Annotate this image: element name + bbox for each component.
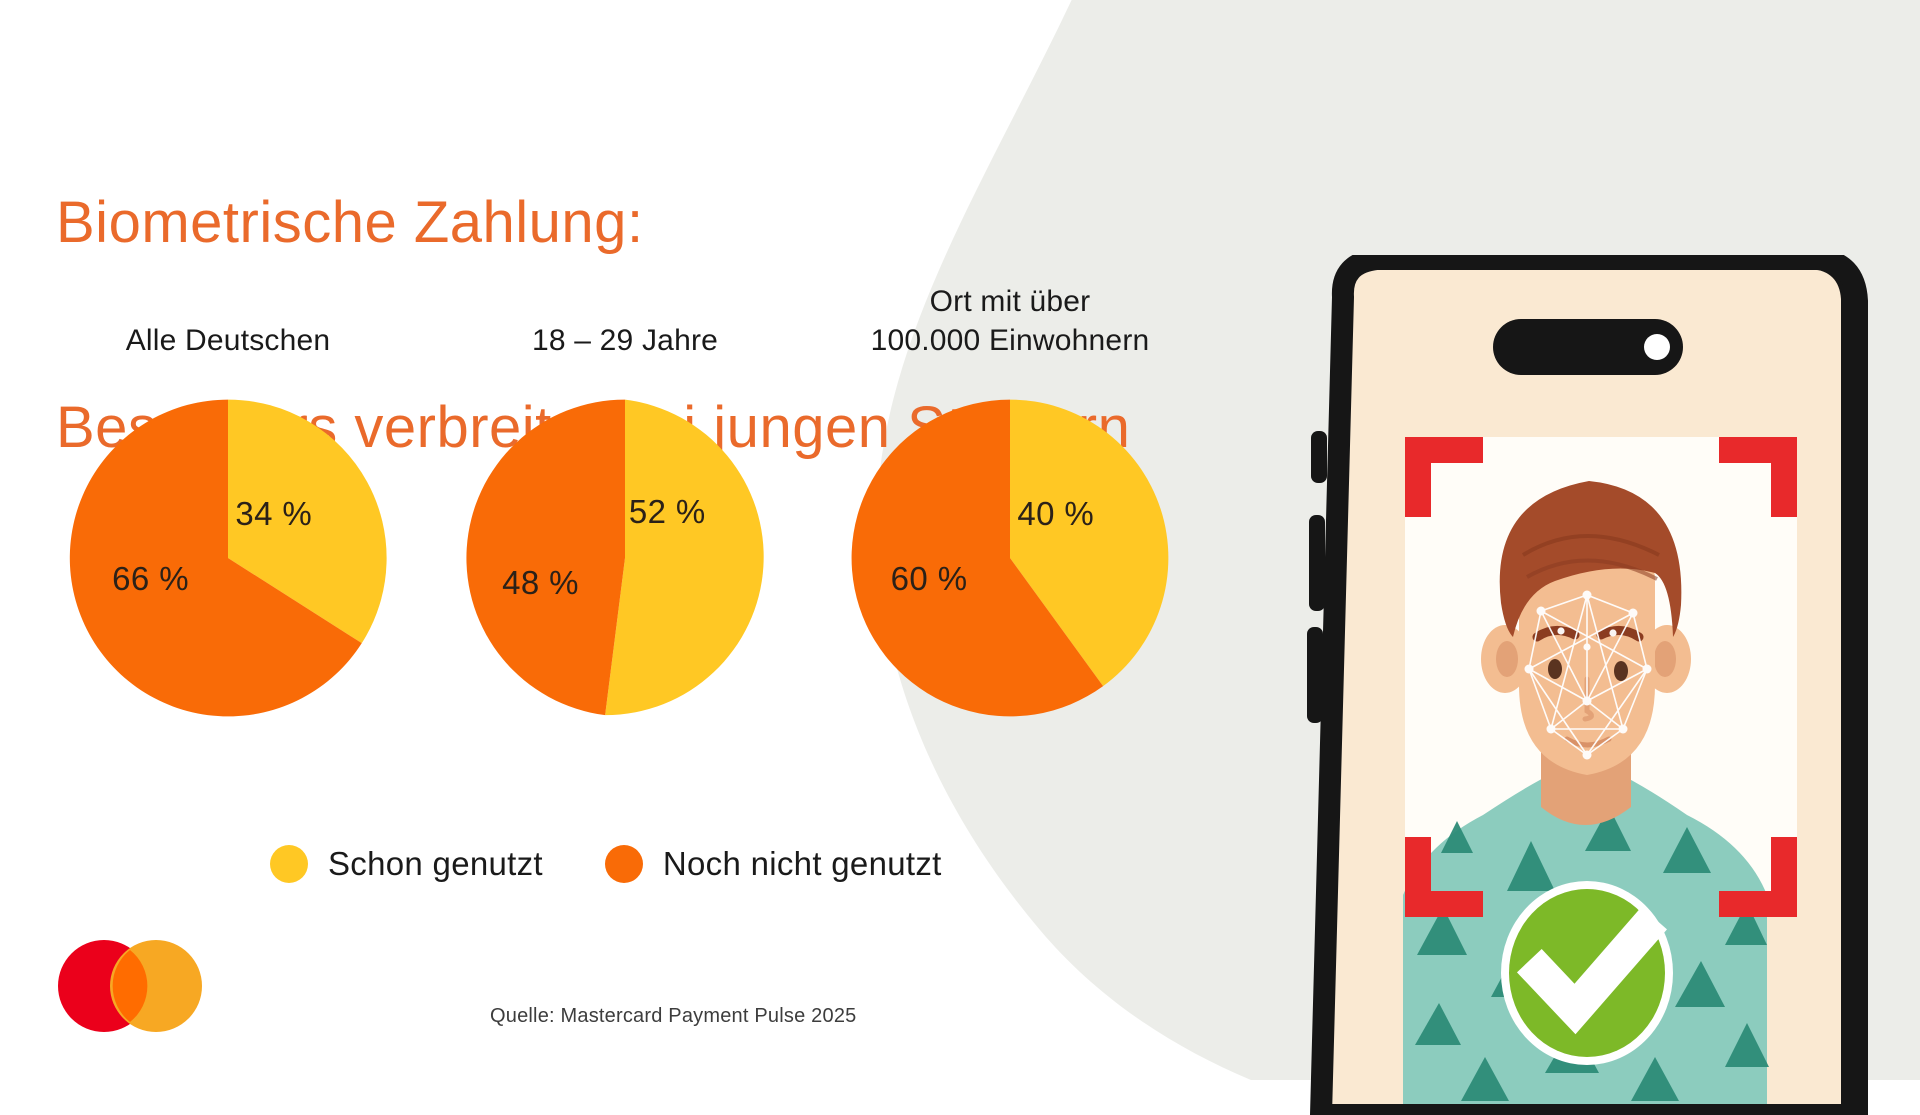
pie-chart-group: Alle Deutschen 34 % 66 % 18 – 29 Jahre xyxy=(0,282,1300,802)
title-line-1: Biometrische Zahlung: xyxy=(56,189,1130,257)
chart-column-ort-mit-ueber-100000-einwohnern: Ort mit über 100.000 Einwohnern 40 % 60 … xyxy=(810,282,1210,734)
phone-volume-up-icon xyxy=(1309,515,1325,611)
legend-item-noch-nicht-genutzt: Noch nicht genutzt xyxy=(605,845,942,883)
pie-label-2-yellow: 40 % xyxy=(1017,495,1094,533)
chart-title-1: 18 – 29 Jahre xyxy=(425,282,825,360)
smartphone-face-scan-illustration xyxy=(1255,255,1920,1115)
eye-left xyxy=(1548,659,1562,679)
phone-volume-down-icon xyxy=(1307,627,1323,723)
chart-column-alle-deutschen: Alle Deutschen 34 % 66 % xyxy=(28,282,428,734)
pie-label-2-orange: 60 % xyxy=(891,560,968,598)
phone-svg xyxy=(1255,255,1920,1115)
pie-chart-0: 34 % 66 % xyxy=(52,382,404,734)
pie-svg-0 xyxy=(52,382,404,734)
chart-title-0: Alle Deutschen xyxy=(28,282,428,360)
pie-label-0-yellow: 34 % xyxy=(235,495,312,533)
source-note: Quelle: Mastercard Payment Pulse 2025 xyxy=(490,1005,856,1028)
eye-right xyxy=(1614,661,1628,681)
ear-left-inner xyxy=(1496,641,1518,677)
chart-column-18-29-jahre: 18 – 29 Jahre 52 % 48 % xyxy=(425,282,825,734)
chart-title-2: Ort mit über 100.000 Einwohnern xyxy=(810,282,1210,360)
chart-legend: Schon genutzt Noch nicht genutzt xyxy=(270,845,942,883)
ear-right-inner xyxy=(1654,641,1676,677)
pie-label-1-yellow: 52 % xyxy=(629,493,706,531)
yellow-dot-icon xyxy=(270,845,308,883)
pie-label-0-orange: 66 % xyxy=(112,560,189,598)
dynamic-island xyxy=(1493,319,1683,375)
orange-dot-icon xyxy=(605,845,643,883)
infographic-canvas: Biometrische Zahlung: Besonders verbreit… xyxy=(0,0,1920,1080)
phone-screen xyxy=(1331,269,1843,1115)
pie-slice-schon-genutzt xyxy=(605,400,764,716)
verified-check-badge xyxy=(1501,881,1673,1065)
mastercard-logo xyxy=(56,940,204,1032)
legend-label-noch-nicht-genutzt: Noch nicht genutzt xyxy=(663,845,942,883)
pie-svg-2 xyxy=(834,382,1186,734)
pie-slice-noch-nicht-genutzt xyxy=(466,400,625,716)
legend-label-schon-genutzt: Schon genutzt xyxy=(328,845,543,883)
phone-side-button-icon xyxy=(1311,431,1327,483)
pie-svg-1 xyxy=(449,382,801,734)
pie-chart-1: 52 % 48 % xyxy=(449,382,801,734)
legend-item-schon-genutzt: Schon genutzt xyxy=(270,845,543,883)
front-camera-icon xyxy=(1644,334,1670,360)
pie-label-1-orange: 48 % xyxy=(502,564,579,602)
pie-chart-2: 40 % 60 % xyxy=(834,382,1186,734)
